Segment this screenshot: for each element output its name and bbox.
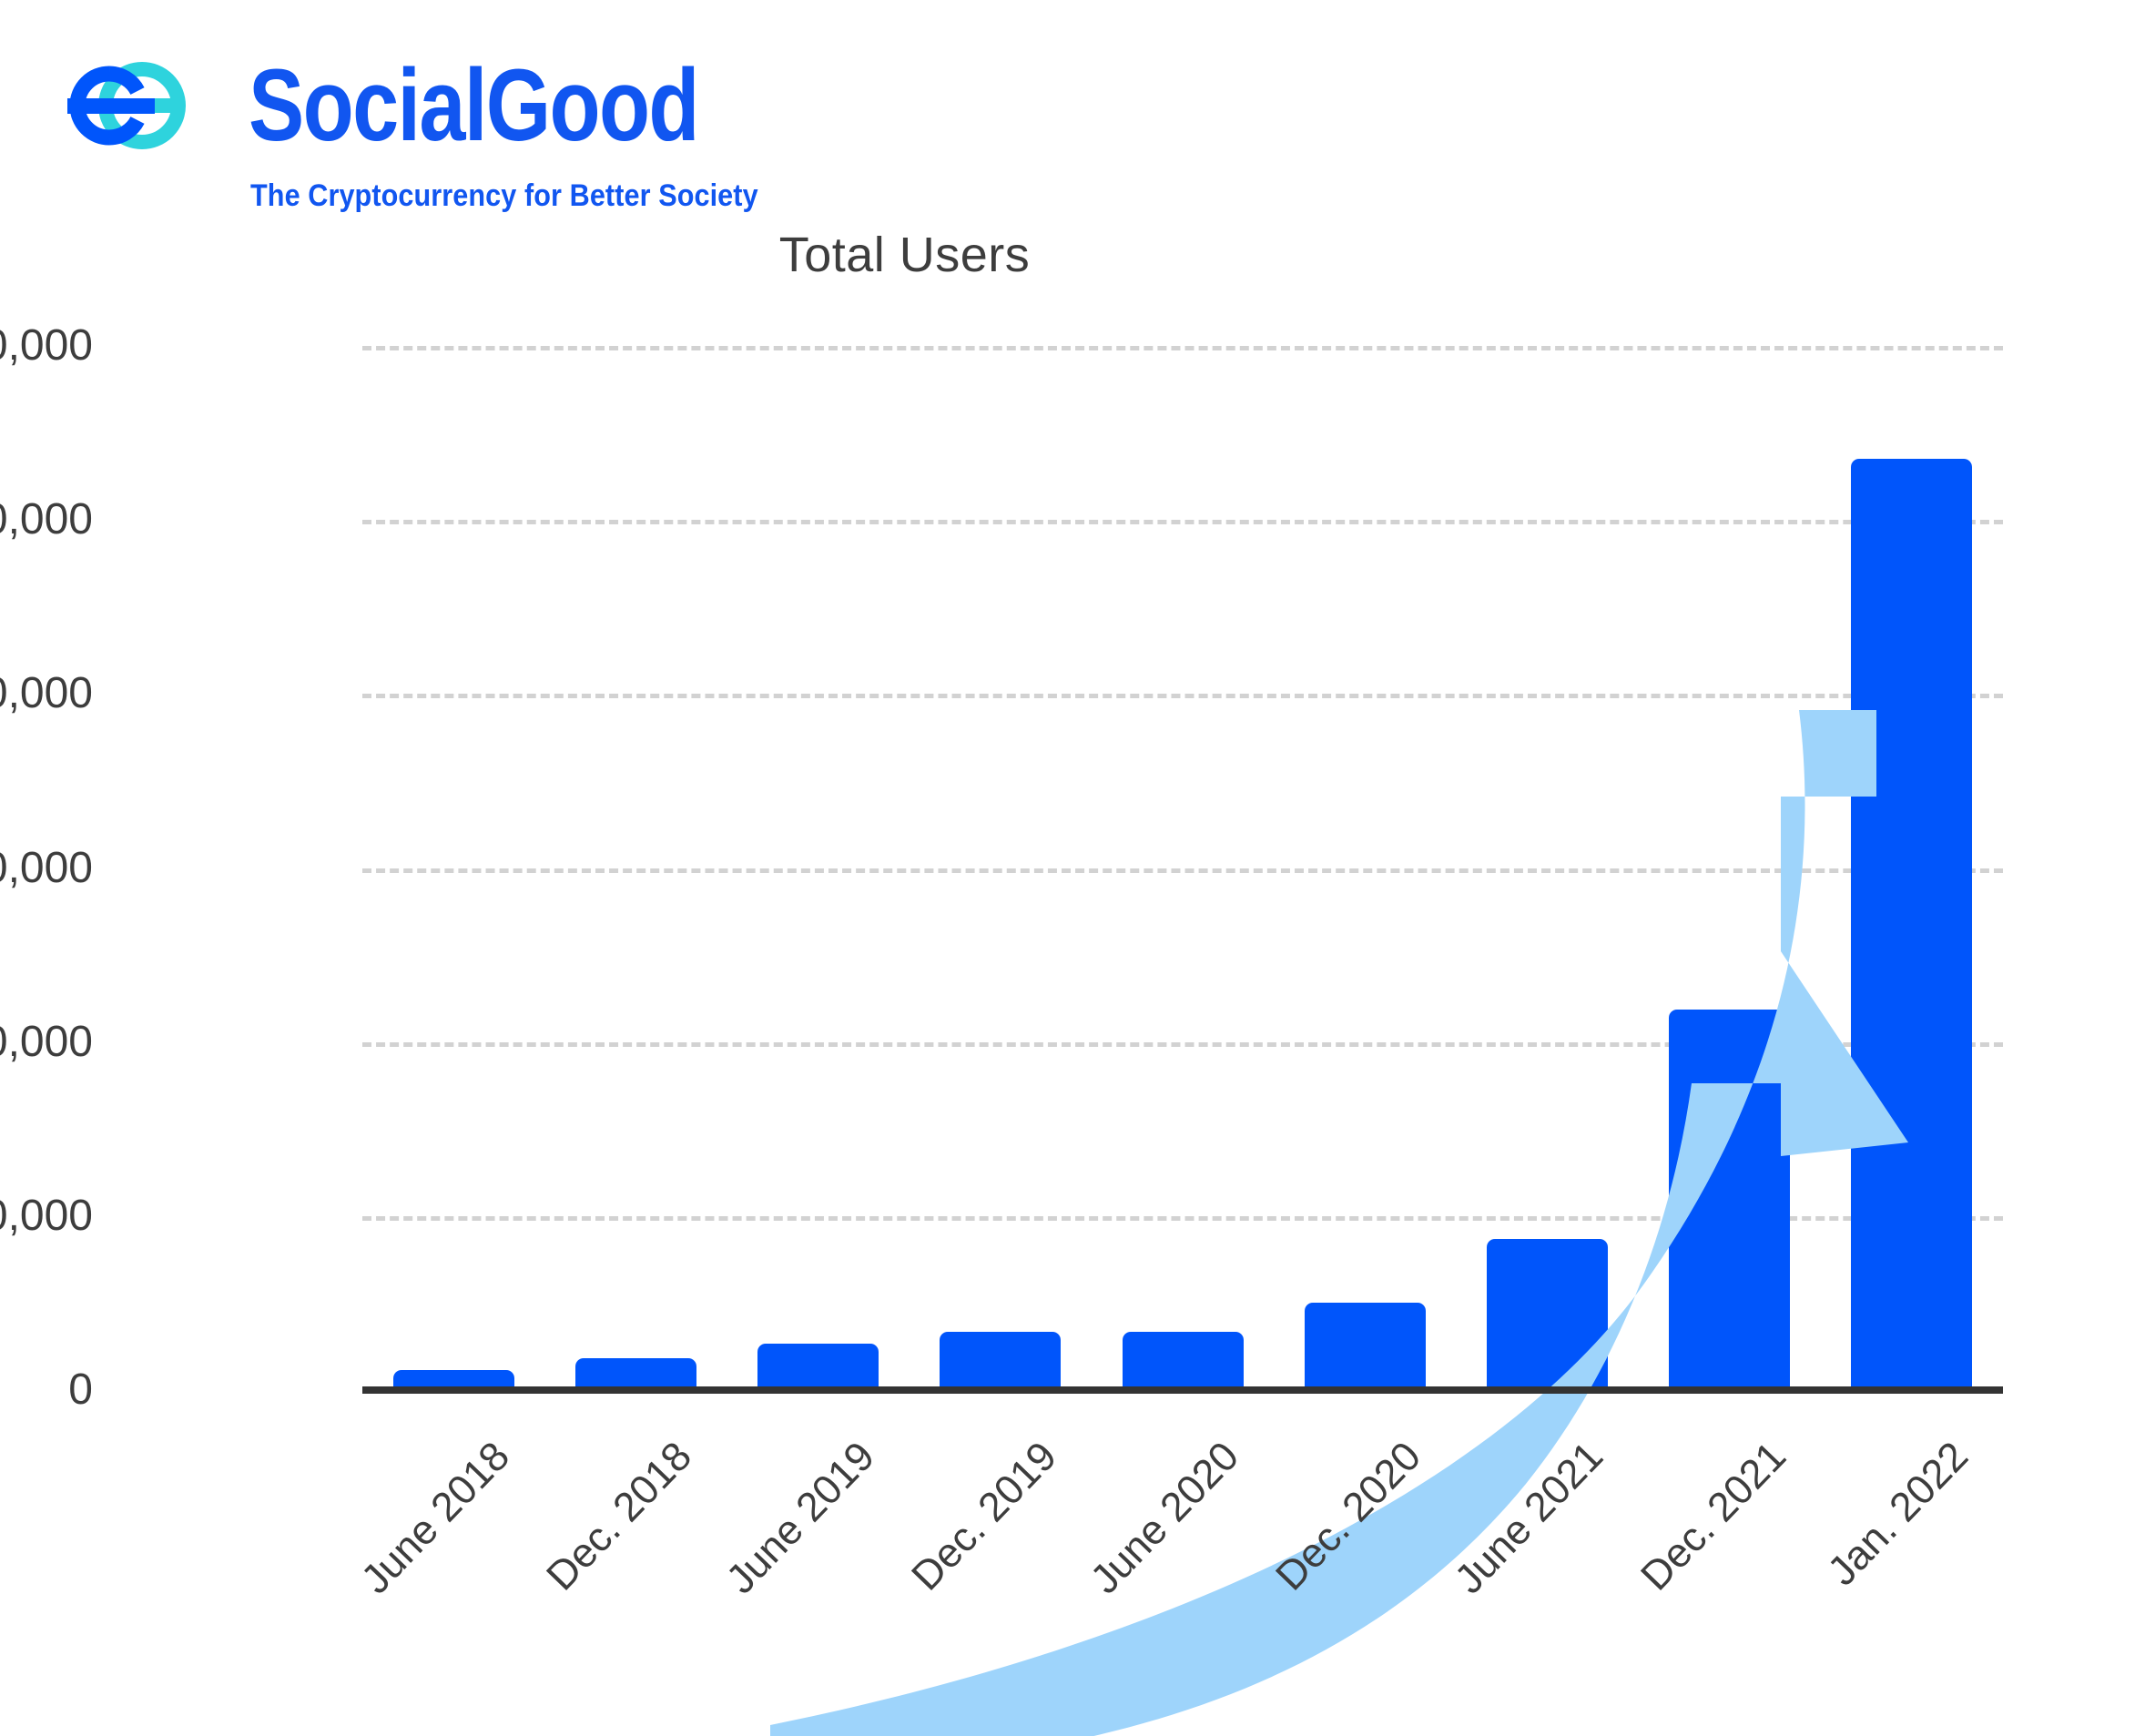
x-tick-label: June 2021 (1447, 1434, 1611, 1602)
y-tick-label: 300,000 (0, 1194, 93, 1238)
gridline (362, 694, 2003, 698)
total-users-bar-chart: Total Users 0300,000600,000900,0001,200,… (0, 0, 2155, 1715)
gridline (362, 346, 2003, 350)
x-tick-label: June 2019 (718, 1434, 883, 1602)
y-tick-label: 600,000 (0, 1020, 93, 1064)
bar (575, 1358, 696, 1390)
gridline (362, 868, 2003, 873)
bar (1305, 1303, 1426, 1390)
x-tick-label: Dec. 2020 (1268, 1434, 1429, 1599)
x-axis-line (362, 1386, 2003, 1394)
gridline (362, 520, 2003, 524)
bar (1123, 1332, 1244, 1390)
y-tick-label: 1,200,000 (0, 672, 93, 716)
chart-title: Total Users (0, 228, 1982, 282)
plot-area (362, 346, 2003, 1390)
x-tick-label: Dec. 2021 (1632, 1434, 1794, 1599)
x-tick-label: Dec. 2019 (903, 1434, 1064, 1599)
bar (757, 1344, 879, 1390)
x-tick-label: June 2018 (353, 1434, 518, 1602)
bar (1851, 459, 1972, 1390)
x-tick-label: Jan. 2022 (1820, 1434, 1977, 1594)
x-tick-label: Dec. 2018 (539, 1434, 700, 1599)
x-tick-label: June 2020 (1083, 1434, 1247, 1602)
y-tick-label: 0 (0, 1368, 93, 1412)
y-tick-label: 1,800,000 (0, 324, 93, 368)
bar (1487, 1239, 1608, 1390)
y-tick-label: 900,000 (0, 847, 93, 890)
bar (1669, 1010, 1790, 1390)
bar (940, 1332, 1061, 1390)
y-tick-label: 1,500,000 (0, 498, 93, 542)
